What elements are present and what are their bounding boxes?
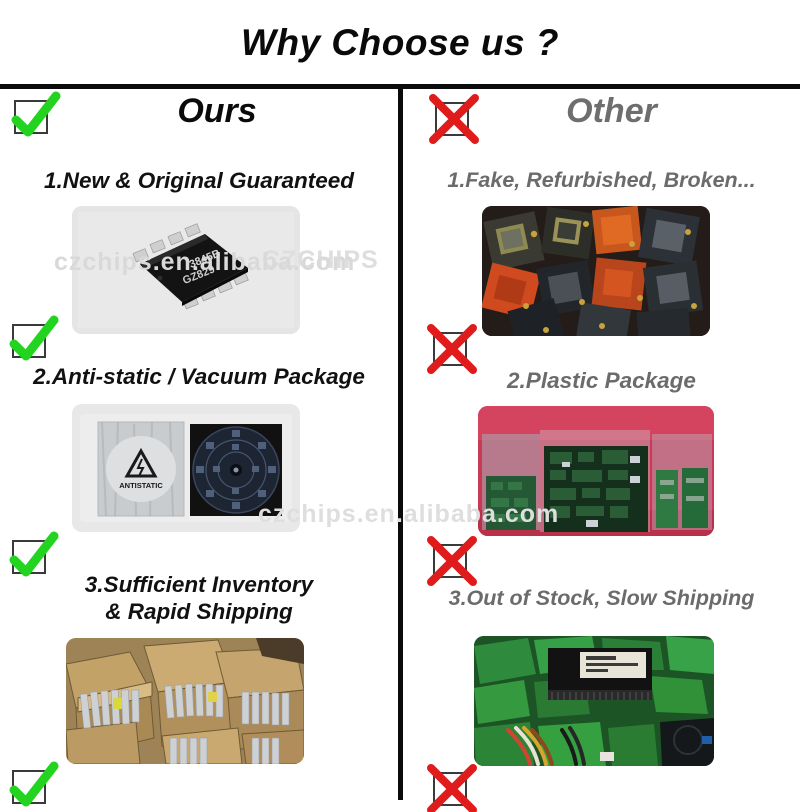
red-cross-icon	[429, 326, 475, 372]
why-choose-us-comparison: Why Choose us ? Ours	[0, 0, 800, 800]
feature-row: 3.Sufficient Inventory & Rapid Shipping	[0, 572, 398, 625]
antistatic-bag-and-tray-photo: ANTISTATIC	[72, 404, 300, 532]
scrap-cpu-pile-photo	[482, 206, 710, 336]
column-other-heading: Other	[413, 92, 800, 131]
column-ours-header: Ours	[0, 86, 398, 152]
feature-row: 2.Plastic Package	[403, 368, 800, 395]
antistatic-label: ANTISTATIC	[119, 481, 163, 490]
column-other-header: Other	[403, 86, 800, 152]
red-cross-icon	[429, 766, 475, 812]
feature-label: 1.New & Original Guaranteed	[0, 168, 398, 195]
pcbs-in-plastic-bags-photo	[478, 406, 714, 536]
feature-row: 1.New & Original Guaranteed	[0, 168, 398, 195]
feature-row: 2.Anti-static / Vacuum Package	[0, 364, 398, 391]
cartons-of-packed-parts-photo	[66, 638, 304, 764]
green-check-icon	[8, 318, 54, 364]
feature-row: 3.Out of Stock, Slow Shipping	[403, 586, 800, 611]
scrap-pcb-pile-photo	[474, 636, 714, 766]
page-title: Why Choose us ?	[0, 22, 800, 64]
sop8-ic-chip-photo: 3845B GZ829	[72, 206, 300, 334]
feature-label: 1.Fake, Refurbished, Broken...	[403, 168, 800, 193]
column-ours-heading: Ours	[18, 92, 416, 131]
red-cross-icon	[429, 538, 475, 584]
feature-label: 2.Anti-static / Vacuum Package	[0, 364, 398, 391]
feature-row: 1.Fake, Refurbished, Broken...	[403, 168, 800, 193]
feature-label: 2.Plastic Package	[403, 368, 800, 395]
feature-label: 3.Sufficient Inventory & Rapid Shipping	[0, 572, 398, 625]
feature-label: 3.Out of Stock, Slow Shipping	[403, 586, 800, 611]
green-check-icon	[8, 764, 54, 810]
